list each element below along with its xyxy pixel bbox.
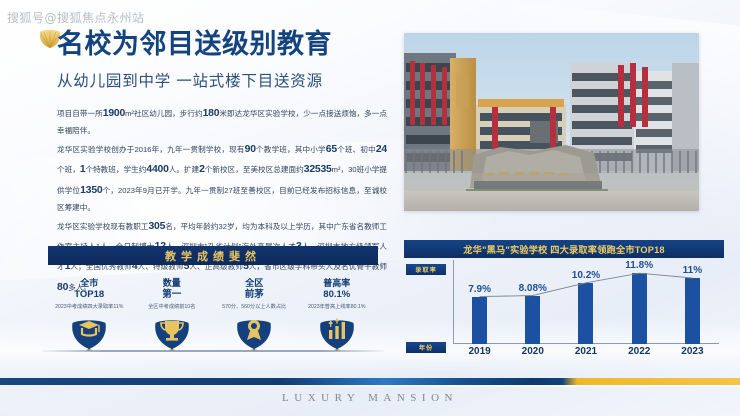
stat-line2: 第一 — [131, 289, 214, 302]
stats-badge-row — [48, 317, 378, 351]
bar-value-label: 10.2% — [572, 270, 600, 281]
stat-note: 2023年普高上线率80.1% — [296, 304, 379, 310]
chart-plot-area: 录取率 年份 7.9%8.08%10.2%11.8%11% 2019202020… — [404, 258, 724, 358]
body-copy: 项目自带一所1900m²社区幼儿园，步行约180米即达龙华区实验学校，少一点接送… — [57, 104, 387, 299]
bar-rect — [632, 273, 647, 344]
stat-note: 全区中考成绩前10名 — [131, 304, 214, 310]
x-axis-label-badge: 年份 — [406, 342, 446, 353]
x-axis-ticks: 20192020202120222023 — [453, 346, 719, 357]
chart-bar-column: 11.8% — [613, 260, 666, 344]
stat-item-3: 全区前茅570分、560分以上人数占比 — [213, 278, 296, 310]
trophy-badge — [152, 317, 192, 351]
footer-gradient-bar — [0, 378, 740, 385]
bar-rect — [525, 296, 540, 344]
medal-badge — [234, 317, 274, 351]
body-paragraph-2: 龙华区实验学校创办于2016年，九年一贯制学校，现有90个教学班，其中小学65个… — [57, 140, 387, 216]
stats-baseline-divider — [42, 350, 384, 352]
chart-bars: 7.9%8.08%10.2%11.8%11% — [453, 260, 719, 344]
bar-value-label: 11% — [683, 265, 702, 276]
medal-icon — [234, 317, 274, 351]
x-tick-label: 2022 — [613, 346, 666, 357]
stat-line1: 全区 — [213, 278, 296, 289]
x-tick-label: 2021 — [559, 346, 612, 357]
chart-bar-column: 11% — [666, 260, 719, 344]
stat-line2: TOP18 — [48, 289, 131, 302]
stat-line1: 普高率 — [296, 278, 379, 289]
bar-growth-icon — [317, 317, 357, 351]
stat-item-4: 普高率80.1%2023年普高上线率80.1% — [296, 278, 379, 310]
teaching-results-ribbon: 教学成绩斐然 — [48, 246, 378, 265]
x-tick-label: 2019 — [453, 346, 506, 357]
slide-root: 搜狐号@搜狐焦点永州站 名校为邻目送级别教育 从幼儿园到中学 一站式楼下目送资源… — [0, 0, 740, 416]
stat-badge-wrap-2 — [131, 317, 214, 351]
footer-brand: LUXURY MANSION — [0, 392, 740, 404]
chart-bar-column: 10.2% — [559, 260, 612, 344]
chart-title-bar: 龙华"黑马"实验学校 四大录取率领跑全市TOP18 — [404, 240, 724, 258]
bar-value-label: 8.08% — [519, 283, 547, 294]
trophy-icon — [152, 317, 192, 351]
chart-bar-column: 8.08% — [506, 260, 559, 344]
stat-badge-wrap-4 — [296, 317, 379, 351]
page-title: 名校为邻目送级别教育 — [57, 30, 397, 58]
watermark-text: 搜狐号@搜狐焦点永州站 — [7, 9, 145, 26]
page-subtitle: 从幼儿园到中学 一站式楼下目送资源 — [57, 69, 397, 91]
stat-note: 570分、560分以上人数占比 — [213, 304, 296, 310]
stat-item-2: 数量第一全区中考成绩前10名 — [131, 278, 214, 310]
bar-rect — [578, 283, 593, 344]
stat-item-1: 全市TOP182023中考成绩四大录取率11% — [48, 278, 131, 310]
y-axis-label-badge: 录取率 — [406, 264, 446, 275]
chart-bar-column: 7.9% — [453, 260, 506, 344]
bar-rect — [472, 297, 487, 344]
bar-value-label: 7.9% — [468, 284, 491, 295]
headline-block: 名校为邻目送级别教育 从幼儿园到中学 一站式楼下目送资源 — [57, 30, 397, 91]
bar-value-label: 11.8% — [625, 260, 653, 271]
stat-badge-wrap-1 — [48, 317, 131, 351]
campus-photo — [404, 33, 699, 211]
stat-line2: 前茅 — [213, 289, 296, 302]
stat-line2: 80.1% — [296, 289, 379, 302]
x-tick-label: 2020 — [506, 346, 559, 357]
chart-title-text: 龙华"黑马"实验学校 四大录取率领跑全市TOP18 — [463, 242, 664, 256]
admission-rate-chart: 龙华"黑马"实验学校 四大录取率领跑全市TOP18 录取率 年份 7.9%8.0… — [404, 240, 724, 358]
graduation-cap-badge — [69, 317, 109, 351]
stats-row: 全市TOP182023中考成绩四大录取率11%数量第一全区中考成绩前10名全区前… — [48, 278, 378, 310]
body-paragraph-1: 项目自带一所1900m²社区幼儿园，步行约180米即达龙华区实验学校，少一点接送… — [57, 104, 387, 139]
stat-line1: 全市 — [48, 278, 131, 289]
stat-note: 2023中考成绩四大录取率11% — [48, 304, 131, 310]
stat-line1: 数量 — [131, 278, 214, 289]
x-tick-label: 2023 — [666, 346, 719, 357]
bar-growth-badge — [317, 317, 357, 351]
ribbon-label: 教学成绩斐然 — [165, 248, 261, 264]
stat-badge-wrap-3 — [213, 317, 296, 351]
bar-rect — [685, 278, 700, 344]
graduation-cap-icon — [69, 317, 109, 351]
footer-highlight-line — [0, 385, 740, 387]
